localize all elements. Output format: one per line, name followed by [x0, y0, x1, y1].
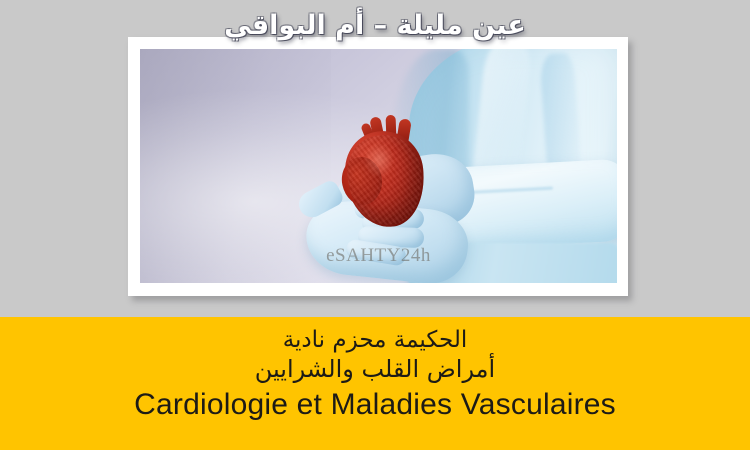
- specialty-french: Cardiologie et Maladies Vasculaires: [0, 384, 750, 423]
- heart-specular-highlight: [364, 143, 394, 177]
- photo-watermark: eSAHTY24h: [140, 245, 617, 267]
- specialty-arabic: أمراض القلب والشرايين: [0, 354, 750, 384]
- photo-image: eSAHTY24h: [140, 49, 617, 283]
- anatomical-heart-model: [342, 117, 428, 229]
- doctor-name: الحكيمة محزم نادية: [0, 323, 750, 354]
- photo-frame: eSAHTY24h: [128, 37, 628, 296]
- info-banner: الحكيمة محزم نادية أمراض القلب والشرايين…: [0, 317, 750, 450]
- location-heading: عين مليلة – أم البواقي: [0, 12, 750, 40]
- poster-card: eSAHTY24h عين مليلة – أم البواقي الحكيمة…: [0, 0, 750, 450]
